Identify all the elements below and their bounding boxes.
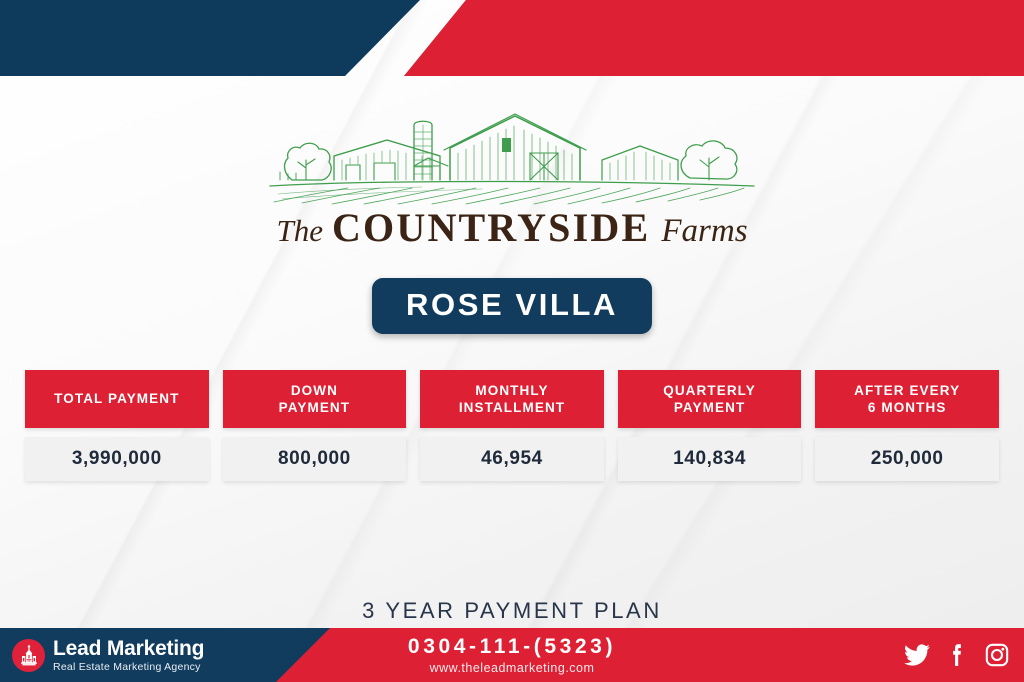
logo-word-the: The [276,213,323,249]
project-logo: The COUNTRYSIDE Farms [0,108,1024,251]
column-header-line: INSTALLMENT [459,400,565,415]
agency-tagline: Real Estate Marketing Agency [53,662,204,673]
header-red-shape [404,0,1024,76]
column-header-line: MONTHLY [475,383,548,398]
column-header: AFTER EVERY 6 MONTHS [815,370,999,428]
column-value: 800,000 [223,437,407,481]
column-header-line: AFTER EVERY [854,383,960,398]
column-header-text: QUARTERLY PAYMENT [663,382,756,417]
payment-column-after-every-6-months: AFTER EVERY 6 MONTHS 250,000 [815,370,999,481]
agency-name-block: Lead Marketing Real Estate Marketing Age… [53,638,204,673]
column-value: 250,000 [815,437,999,481]
column-header: DOWN PAYMENT [223,370,407,428]
payment-table: TOTAL PAYMENT 3,990,000 DOWN PAYMENT 800… [25,370,999,481]
column-header-text: DOWN PAYMENT [279,382,350,417]
payment-column-total-payment: TOTAL PAYMENT 3,990,000 [25,370,209,481]
payment-column-quarterly-payment: QUARTERLY PAYMENT 140,834 [618,370,802,481]
column-value: 46,954 [420,437,604,481]
payment-column-down-payment: DOWN PAYMENT 800,000 [223,370,407,481]
facebook-icon[interactable] [944,642,970,668]
payment-plan-tagline: 3 YEAR PAYMENT PLAN [0,598,1024,624]
column-header: QUARTERLY PAYMENT [618,370,802,428]
column-header-line: DOWN [291,383,338,398]
column-header-line: PAYMENT [279,400,350,415]
column-header-line: PAYMENT [674,400,745,415]
project-logo-wordmark: The COUNTRYSIDE Farms [276,204,747,251]
agency-mark [12,639,45,672]
unit-name-badge: ROSE VILLA [372,278,652,334]
column-header-line: 6 MONTHS [868,400,947,415]
column-header-text: MONTHLY INSTALLMENT [459,382,565,417]
instagram-icon[interactable] [984,642,1010,668]
column-value: 3,990,000 [25,437,209,481]
farm-illustration-icon [262,108,762,208]
tower-building-icon [19,644,39,666]
footer-bar: Lead Marketing Real Estate Marketing Age… [0,628,1024,682]
column-header-line: TOTAL PAYMENT [54,390,179,407]
column-header: TOTAL PAYMENT [25,370,209,428]
column-header: MONTHLY INSTALLMENT [420,370,604,428]
payment-plan-flyer: The COUNTRYSIDE Farms ROSE VILLA TOTAL P… [0,0,1024,682]
column-header-line: QUARTERLY [663,383,756,398]
column-value: 140,834 [618,437,802,481]
header-banner [0,0,1024,82]
social-links [904,628,1010,682]
column-header-text: AFTER EVERY 6 MONTHS [854,382,960,417]
header-navy-shape [0,0,420,76]
agency-name: Lead Marketing [53,638,204,659]
payment-column-monthly-installment: MONTHLY INSTALLMENT 46,954 [420,370,604,481]
logo-word-countryside: COUNTRYSIDE [332,204,650,251]
twitter-icon[interactable] [904,642,930,668]
logo-word-farms: Farms [661,213,747,250]
agency-logo: Lead Marketing Real Estate Marketing Age… [12,628,204,682]
